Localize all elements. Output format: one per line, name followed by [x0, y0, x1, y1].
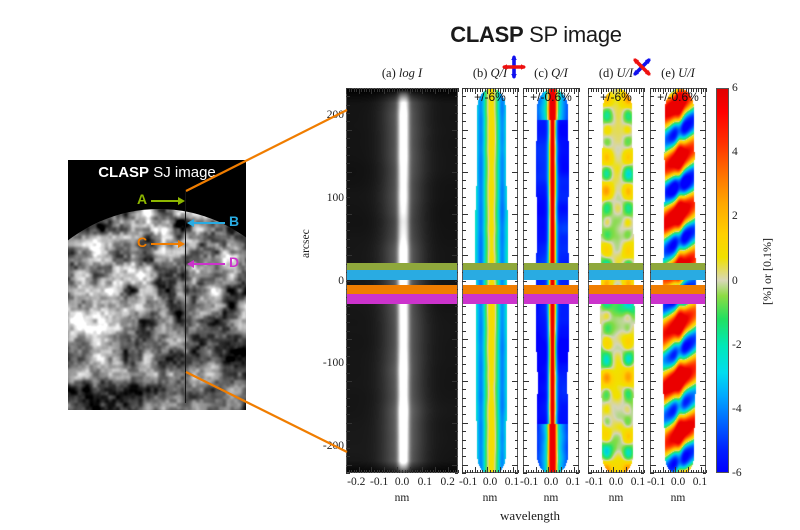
panel-a-x-tick-labels: -0.2-0.10.00.10.2 [346, 476, 458, 492]
y-axis-title: arcsec [300, 229, 312, 258]
slit-band-d [651, 294, 705, 304]
q-polarization-reference-icon [501, 54, 527, 80]
x-tick-label: 0.1 [566, 476, 580, 488]
colorbar [716, 88, 729, 473]
sp-title-bold: CLASP [450, 22, 523, 47]
u-polarization-reference-icon [629, 54, 655, 80]
slit-band-d [463, 294, 517, 304]
slit-band-b [589, 270, 643, 280]
sp-image-title: CLASP SP image [386, 22, 686, 52]
y-tick-label: -100 [323, 357, 344, 369]
x-tick-label: 0.0 [671, 476, 685, 488]
colorbar-tick-label: 2 [732, 210, 738, 222]
sj-marker-label-d: D [229, 255, 239, 269]
sj-title-rest: SJ image [149, 164, 216, 181]
panel-a [346, 88, 458, 473]
slit-band-b [651, 270, 705, 280]
y-axis-tick-labels: 2001000-100-200 [300, 88, 344, 473]
panel-c-quantity: Q/I [551, 66, 568, 80]
panel-d-image [589, 89, 644, 473]
x-tick-label: 0.0 [544, 476, 558, 488]
x-tick-label: -0.1 [585, 476, 603, 488]
panel-a-title: (a) log I [346, 66, 458, 84]
sj-marker-arrow-d [193, 263, 225, 265]
x-tick-label: -0.2 [347, 476, 365, 488]
panel-b [462, 88, 518, 473]
panel-c [523, 88, 579, 473]
x-tick-label: 0.1 [693, 476, 707, 488]
x-tick-label: -0.1 [370, 476, 388, 488]
x-tick-label: 0.0 [395, 476, 409, 488]
panel-b-x-tick-labels: -0.10.00.1 [462, 476, 518, 492]
panel-b-x-unit: nm [462, 492, 518, 508]
sj-marker-arrow-c [151, 243, 179, 245]
sj-image-panel: CLASP SJ image [68, 160, 246, 410]
panel-d [588, 88, 644, 473]
colorbar-tick-label: -2 [732, 339, 742, 351]
panel-c-label: (c) [534, 66, 551, 80]
colorbar-tick-label: -4 [732, 403, 742, 415]
y-tick-label: 200 [327, 109, 344, 121]
sj-marker-arrow-a [151, 200, 179, 202]
panel-d-scale: +/-6% [588, 90, 644, 106]
slit-band-d [524, 294, 578, 304]
panel-c-x-unit: nm [523, 492, 579, 508]
panel-d-x-tick-labels: -0.10.00.1 [588, 476, 644, 492]
colorbar-tick-label: 6 [732, 82, 738, 94]
colorbar-tick-label: 0 [732, 275, 738, 287]
colorbar-tick-label: -6 [732, 467, 742, 479]
slit-band-b [463, 270, 517, 280]
panel-e [650, 88, 706, 473]
colorbar-tick-labels: 6420-2-4-6 [732, 88, 762, 473]
panel-a-image [347, 89, 458, 473]
x-tick-label: 0.0 [483, 476, 497, 488]
slit-band-d [589, 294, 643, 304]
sj-image-title: CLASP SJ image [68, 164, 246, 188]
sp-title-rest: SP image [523, 22, 621, 47]
slit-band-b [524, 270, 578, 280]
x-tick-label: -0.1 [520, 476, 538, 488]
slit-band-b [347, 270, 457, 280]
panel-e-image [651, 89, 706, 473]
x-tick-label: 0.1 [505, 476, 519, 488]
panel-e-x-unit: nm [650, 492, 706, 508]
panel-c-title: (c) Q/I [523, 66, 579, 84]
sj-marker-arrow-b [193, 222, 225, 224]
sj-title-bold: CLASP [98, 164, 149, 181]
sj-slit-line [185, 191, 186, 403]
panel-e-quantity: U/I [678, 66, 695, 80]
panel-b-label: (b) [473, 66, 491, 80]
y-tick-label: 100 [327, 192, 344, 204]
panel-e-title: (e) U/I [650, 66, 706, 84]
sj-marker-label-a: A [137, 192, 147, 206]
figure-canvas: CLASP SP image CLASP SJ image ABCD 20010… [0, 0, 800, 530]
panel-d-label: (d) [599, 66, 617, 80]
y-tick-label: -200 [323, 440, 344, 452]
panel-a-x-unit: nm [346, 492, 458, 508]
panel-c-x-tick-labels: -0.10.00.1 [523, 476, 579, 492]
panel-e-scale: +/-0.6% [650, 90, 706, 106]
panel-b-scale: +/-6% [462, 90, 518, 106]
panel-e-x-tick-labels: -0.10.00.1 [650, 476, 706, 492]
slit-band-d [347, 294, 457, 304]
colorbar-tick-label: 4 [732, 146, 738, 158]
y-tick-label: 0 [338, 275, 344, 287]
colorbar-title: [%] or [0.1%] [760, 238, 775, 305]
x-tick-label: 0.2 [441, 476, 455, 488]
x-tick-label: 0.1 [631, 476, 645, 488]
panel-b-image [463, 89, 518, 473]
x-tick-label: -0.1 [459, 476, 477, 488]
panel-a-label: (a) [382, 66, 399, 80]
panel-c-scale: +/-0.6% [523, 90, 579, 106]
panel-c-image [524, 89, 579, 473]
x-tick-label: -0.1 [647, 476, 665, 488]
panel-e-label: (e) [661, 66, 678, 80]
sj-marker-label-b: B [229, 214, 239, 228]
panel-d-x-unit: nm [588, 492, 644, 508]
x-tick-label: 0.1 [418, 476, 432, 488]
sj-marker-label-c: C [137, 235, 147, 249]
x-tick-label: 0.0 [609, 476, 623, 488]
panel-a-quantity: log I [399, 66, 422, 80]
x-axis-group-label: wavelength [330, 508, 730, 524]
